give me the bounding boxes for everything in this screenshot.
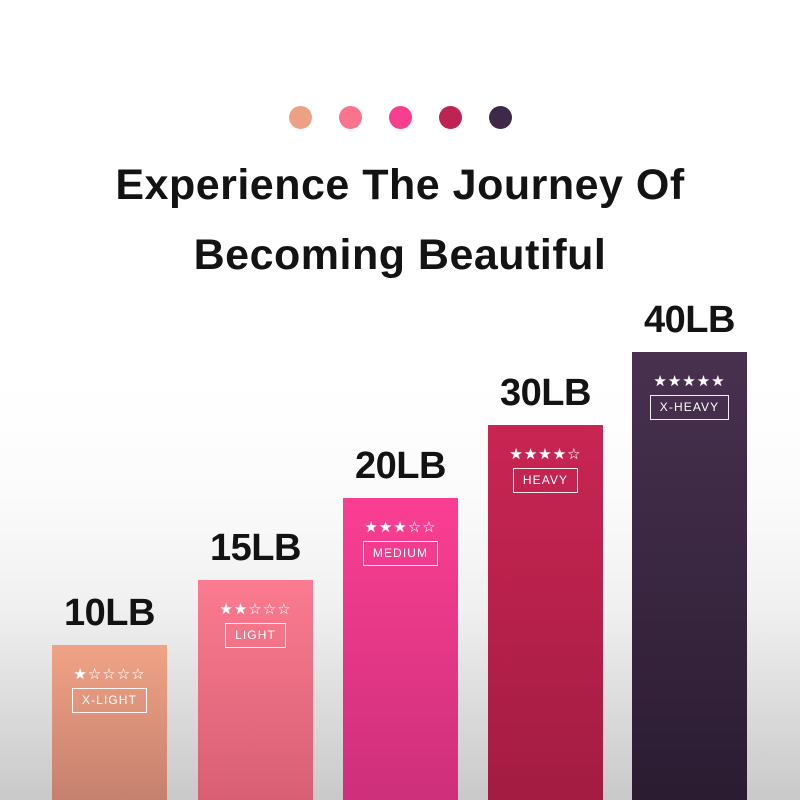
bar-40lb-weight-label: 40LB <box>632 299 747 342</box>
bar-40lb-rating-badge: ★★★★★X-HEAVY <box>632 374 747 420</box>
bar-10lb-star-rating-icon: ★☆☆☆☆ <box>73 667 145 682</box>
resistance-band-bar-chart: 10LB★☆☆☆☆X-LIGHT15LB★★☆☆☆LIGHT20LB★★★☆☆M… <box>0 0 800 800</box>
infographic-canvas: Experience The Journey Of Becoming Beaut… <box>0 0 800 800</box>
bar-20lb-star-rating-icon: ★★★☆☆ <box>364 520 436 535</box>
bar-15lb-weight-label: 15LB <box>198 527 313 570</box>
bar-30lb-weight-label: 30LB <box>488 372 603 415</box>
bar-30lb-star-rating-icon: ★★★★☆ <box>509 447 581 462</box>
bar-15lb-rating-badge: ★★☆☆☆LIGHT <box>198 602 313 648</box>
bar-20lb[interactable]: 20LB★★★☆☆MEDIUM <box>343 498 458 800</box>
bar-30lb-rating-badge: ★★★★☆HEAVY <box>488 447 603 493</box>
bar-10lb-weight-label: 10LB <box>52 592 167 635</box>
bar-10lb-level-chip: X-LIGHT <box>72 688 147 713</box>
bar-20lb-rating-badge: ★★★☆☆MEDIUM <box>343 520 458 566</box>
bar-15lb-level-chip: LIGHT <box>225 623 286 648</box>
bar-15lb[interactable]: 15LB★★☆☆☆LIGHT <box>198 580 313 800</box>
bar-15lb-star-rating-icon: ★★☆☆☆ <box>219 602 291 617</box>
bar-10lb-rating-badge: ★☆☆☆☆X-LIGHT <box>52 667 167 713</box>
bar-40lb-level-chip: X-HEAVY <box>650 395 730 420</box>
bar-40lb[interactable]: 40LB★★★★★X-HEAVY <box>632 352 747 800</box>
bar-20lb-level-chip: MEDIUM <box>363 541 438 566</box>
bar-30lb-level-chip: HEAVY <box>513 468 578 493</box>
bar-20lb-weight-label: 20LB <box>343 445 458 488</box>
bar-10lb[interactable]: 10LB★☆☆☆☆X-LIGHT <box>52 645 167 800</box>
bar-40lb-star-rating-icon: ★★★★★ <box>653 374 725 389</box>
bar-30lb[interactable]: 30LB★★★★☆HEAVY <box>488 425 603 800</box>
